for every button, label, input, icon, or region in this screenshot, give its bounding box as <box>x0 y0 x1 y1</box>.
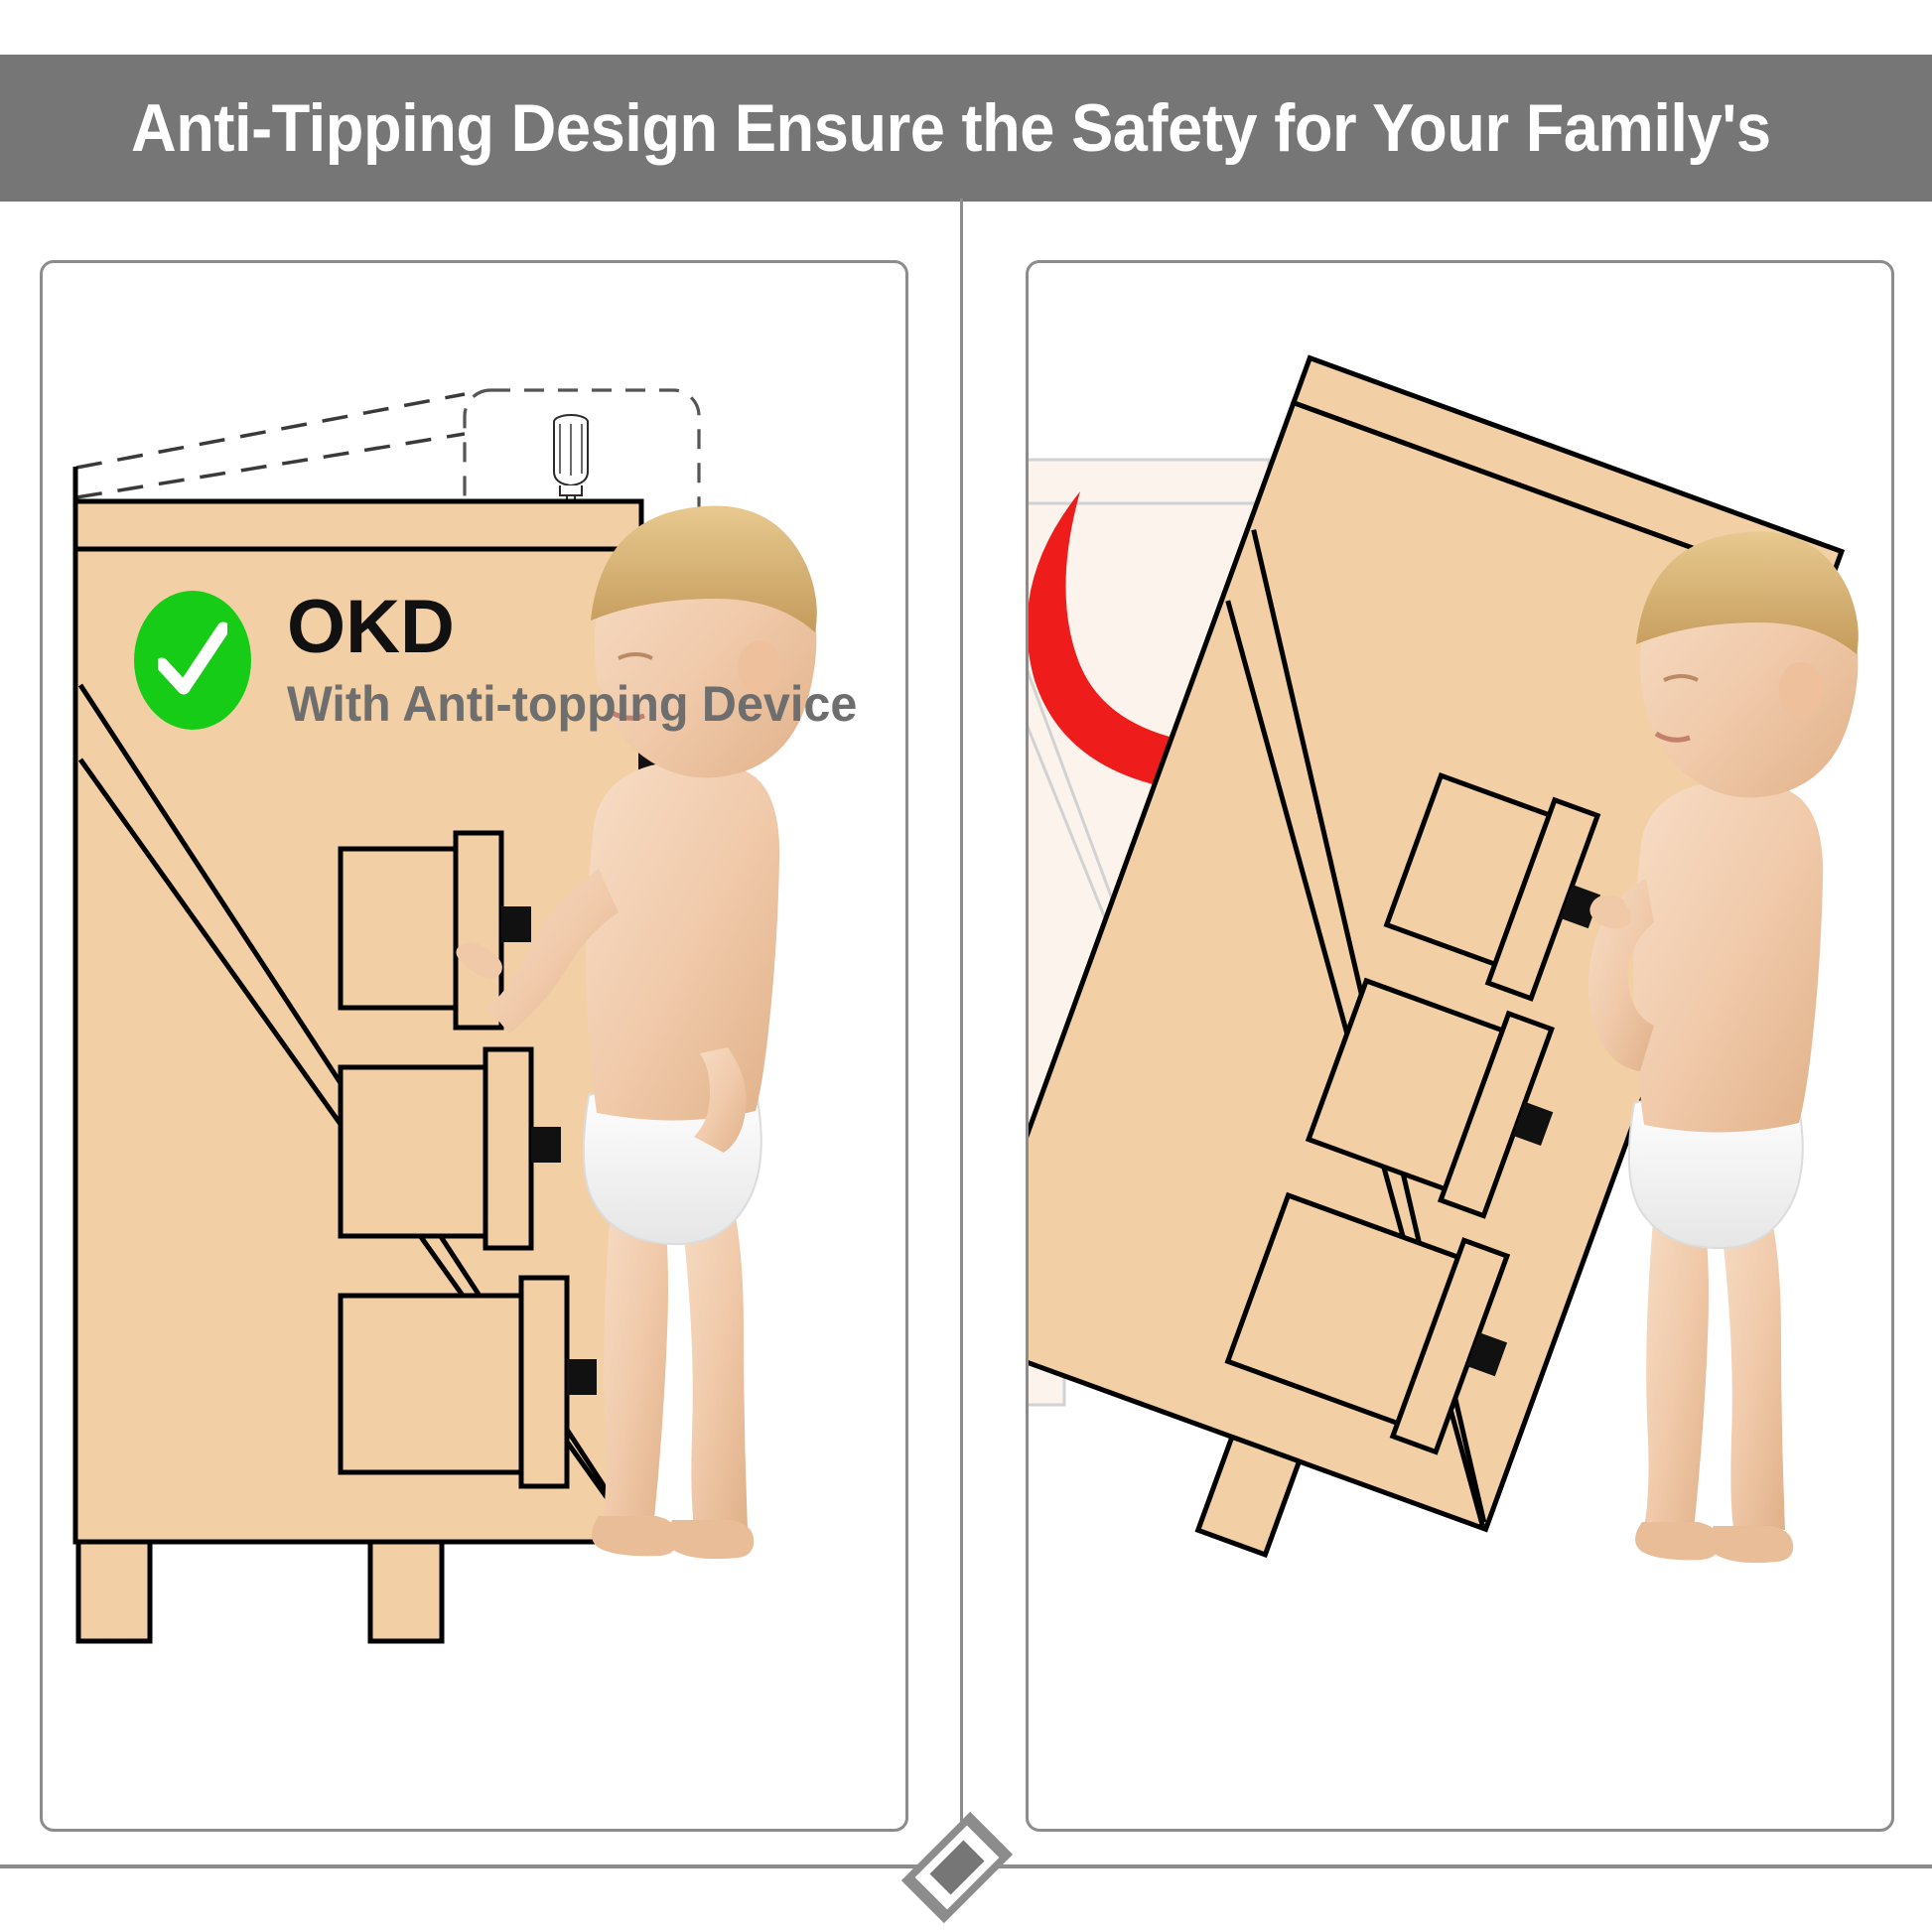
drawer-handle-icon <box>501 906 531 942</box>
open-drawer-2 <box>341 1049 561 1248</box>
header-bar: Anti-Tipping Design Ensure the Safety fo… <box>0 55 1932 202</box>
panel-title-okd: OKD <box>287 591 875 664</box>
open-drawer-3 <box>341 1278 597 1486</box>
drawer-handle-icon <box>531 1127 561 1163</box>
poster-canvas: Anti-Tipping Design Ensure the Safety fo… <box>0 0 1932 1932</box>
check-icon <box>158 621 227 702</box>
center-divider <box>960 199 963 1835</box>
status-badge-okd: OKD With Anti-topping Device <box>134 591 875 734</box>
callout-leader-lines <box>76 394 465 497</box>
check-circle-icon <box>134 591 251 730</box>
drawer-handle-icon <box>567 1359 597 1395</box>
panel-other: OTHER Without Anti-topping Device <box>1026 260 1894 1832</box>
okd-illustration <box>43 263 908 1832</box>
other-illustration <box>1029 263 1894 1832</box>
panel-subtitle-okd: With Anti-topping Device <box>287 676 857 734</box>
page-title: Anti-Tipping Design Ensure the Safety fo… <box>131 89 1771 167</box>
panel-okd: OKD With Anti-topping Device <box>40 260 908 1832</box>
